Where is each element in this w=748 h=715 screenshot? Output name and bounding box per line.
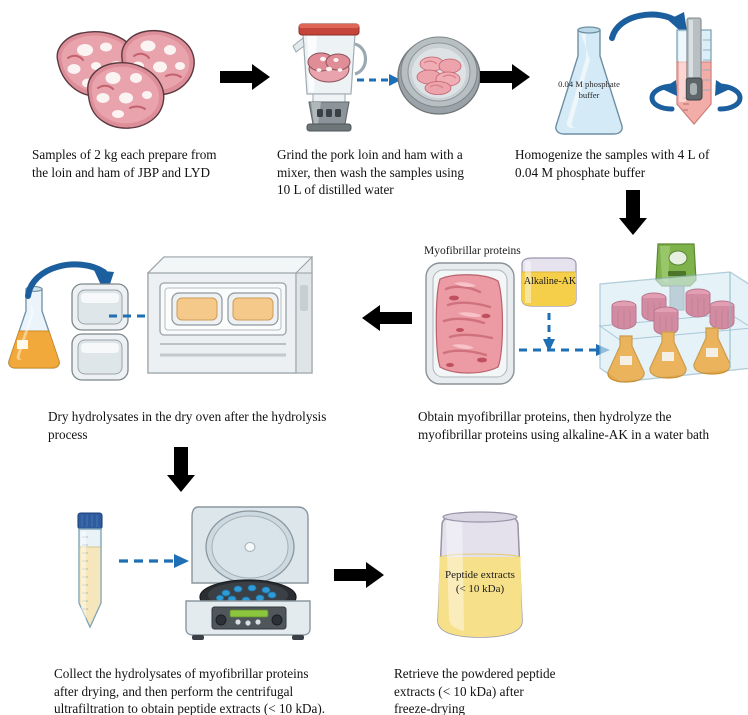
water-bath-illustration — [598, 242, 748, 390]
arrow-row1-to-row2 — [618, 190, 648, 236]
arrow-bath-to-oven — [360, 303, 412, 333]
caption-step-3: Homogenize the samples with 4 L of 0.04 … — [515, 146, 748, 181]
conical-tube — [72, 511, 108, 635]
centrifuge-illustration — [178, 505, 318, 641]
flask-buffer-label: 0.04 M phosphate buffer — [553, 79, 625, 100]
caption-step-1: Samples of 2 kg each prepare from the lo… — [32, 146, 272, 181]
arrow-homogenizer-rotation — [646, 78, 746, 114]
workflow-diagram: 0.04 M phosphate buffer — [0, 0, 748, 715]
caption-step-4: Obtain myofibrillar proteins, then hydro… — [418, 408, 748, 443]
myofibrillar-protein-tray — [424, 261, 516, 386]
arrow-row2-to-row3 — [166, 447, 196, 493]
alkaline-ak-label: Alkaline-AK — [521, 276, 579, 287]
bowl-with-ground-meat — [396, 30, 482, 116]
jar-label-line-2: (< 10 kDa) — [432, 582, 528, 596]
myofibrillar-proteins-label: Myofibrillar proteins — [424, 245, 521, 257]
raw-meat-illustration — [30, 14, 220, 134]
caption-step-2: Grind the pork loin and ham with a mixer… — [277, 146, 527, 199]
arrow-centrifuge-to-jar — [334, 560, 386, 590]
dry-oven-illustration — [146, 245, 314, 390]
jar-label-line-1: Peptide extracts — [432, 568, 528, 582]
caption-step-7: Retrieve the powdered peptide extracts (… — [394, 665, 634, 715]
caption-step-5: Dry hydrolysates in the dry oven after t… — [48, 408, 398, 443]
arrow-bowl-to-flask — [480, 62, 532, 92]
drying-trays — [68, 280, 132, 386]
arrow-samples-to-mixer — [220, 62, 272, 92]
caption-step-6: Collect the hydrolysates of myofibrillar… — [54, 665, 394, 715]
